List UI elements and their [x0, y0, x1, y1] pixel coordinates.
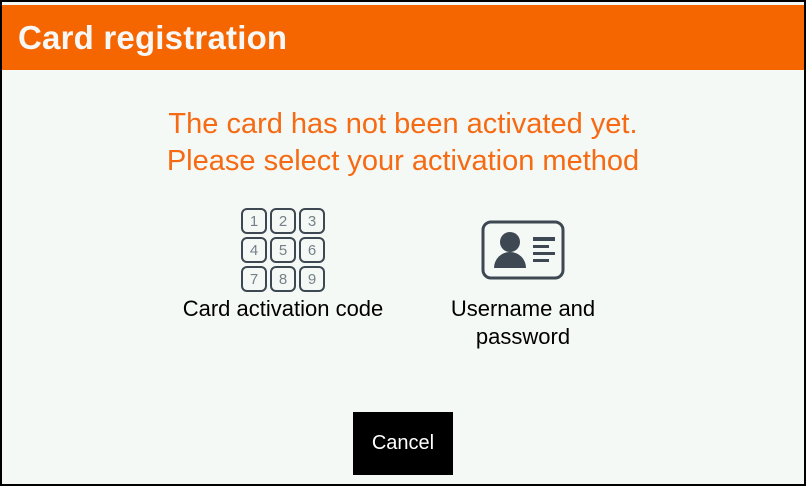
option-username-and-password[interactable]: Username and password: [403, 207, 643, 351]
instruction-line-1: The card has not been activated yet.: [2, 106, 804, 143]
option-icon-wrapper: 1 2 3 4 5 6 7 8 9: [241, 207, 325, 293]
keypad-key: 4: [241, 237, 267, 263]
instruction-message: The card has not been activated yet. Ple…: [2, 106, 804, 180]
option-label-username-and-password: Username and password: [416, 295, 631, 351]
keypad-key: 2: [270, 208, 296, 234]
keypad-key: 3: [299, 208, 325, 234]
keypad-key: 8: [270, 266, 296, 292]
option-icon-wrapper: [481, 207, 565, 293]
option-label-card-activation-code: Card activation code: [183, 295, 384, 323]
keypad-key: 9: [299, 266, 325, 292]
keypad-key: 7: [241, 266, 267, 292]
instruction-line-2: Please select your activation method: [2, 143, 804, 180]
dialog-footer: Cancel: [2, 412, 804, 475]
keypad-key: 5: [270, 237, 296, 263]
card-registration-dialog: Card registration The card has not been …: [0, 0, 806, 486]
cancel-button[interactable]: Cancel: [353, 412, 453, 475]
page-title: Card registration: [2, 19, 287, 57]
activation-method-options: 1 2 3 4 5 6 7 8 9 Card activation code: [2, 207, 804, 351]
dialog-header: Card registration: [2, 5, 804, 70]
keypad-key: 1: [241, 208, 267, 234]
option-card-activation-code[interactable]: 1 2 3 4 5 6 7 8 9 Card activation code: [163, 207, 403, 323]
id-card-icon: [481, 220, 565, 280]
keypad-key: 6: [299, 237, 325, 263]
keypad-icon: 1 2 3 4 5 6 7 8 9: [241, 208, 325, 292]
